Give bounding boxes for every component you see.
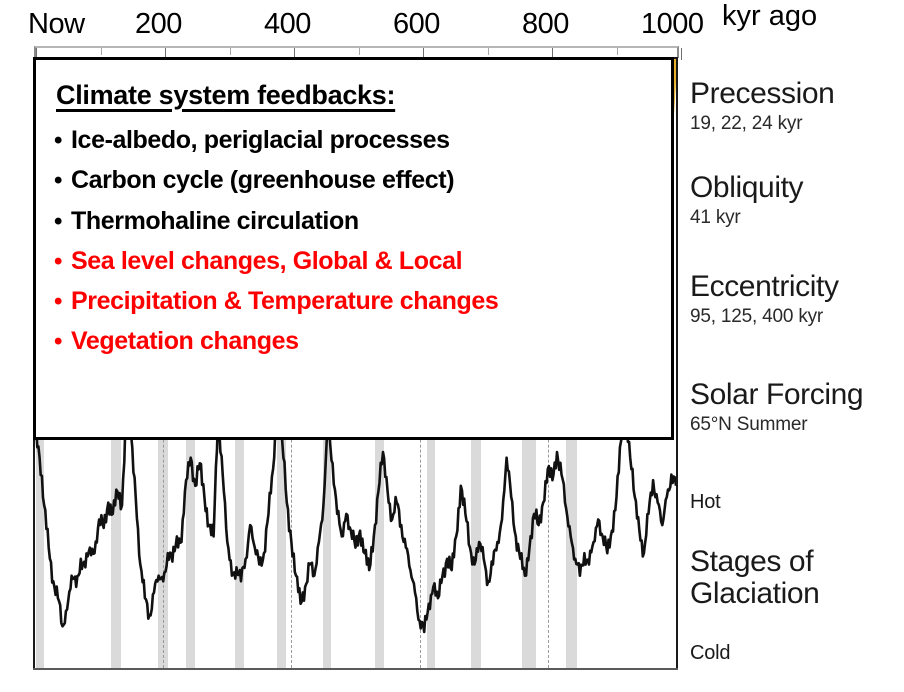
feedback-list: •Ice-albedo, periglacial processes•Carbo… [54, 127, 653, 355]
bullet-icon: • [54, 330, 62, 354]
feedback-item: •Ice-albedo, periglacial processes [54, 127, 653, 153]
feedback-item: •Sea level changes, Global & Local [54, 248, 653, 274]
axis-tick-200: 200 [135, 8, 182, 41]
ruler-minor-tick-100 [101, 48, 102, 55]
forcing-label-subtitle: Glaciation [690, 579, 819, 609]
forcing-label-column: Precession19, 22, 24 kyrObliquity41 kyrE… [690, 57, 904, 670]
slide-root: Now2004006008001000 kyr ago Climate syst… [0, 0, 904, 692]
bullet-icon: • [54, 129, 62, 153]
ruler-major-tick-1000 [681, 48, 682, 60]
forcing-label-hot: Hot [690, 491, 721, 514]
forcing-label-cold: Cold [690, 642, 730, 665]
feedback-item-label: Carbon cycle (greenhouse effect) [71, 167, 454, 193]
axis-tick-800: 800 [522, 8, 569, 41]
forcing-label-title: Precession [690, 79, 834, 109]
forcing-label-subtitle: 19, 22, 24 kyr [690, 114, 834, 134]
ruler-minor-tick-900 [617, 48, 618, 55]
forcing-label-stages-of-glaciation: Stages ofGlaciation [690, 547, 819, 609]
feedback-item: •Thermohaline circulation [54, 208, 653, 234]
ruler-minor-tick-500 [359, 48, 360, 55]
feedback-item: •Precipitation & Temperature changes [54, 288, 653, 314]
bullet-icon: • [54, 169, 62, 193]
forcing-label-obliquity: Obliquity41 kyr [690, 173, 803, 228]
forcing-label-title: Stages of [690, 547, 819, 577]
forcing-label-title: Hot [690, 491, 721, 514]
forcing-label-subtitle: 41 kyr [690, 208, 803, 228]
axis-tick-400: 400 [264, 8, 311, 41]
bullet-icon: • [54, 250, 62, 274]
ruler-minor-tick-300 [230, 48, 231, 55]
axis-tick-now: Now [28, 8, 85, 41]
forcing-label-subtitle: 65°N Summer [690, 415, 863, 435]
forcing-label-title: Solar Forcing [690, 380, 863, 410]
feedback-item: •Carbon cycle (greenhouse effect) [54, 167, 653, 193]
climate-feedbacks-panel: Climate system feedbacks: •Ice-albedo, p… [33, 57, 674, 440]
forcing-label-eccentricity: Eccentricity95, 125, 400 kyr [690, 272, 839, 327]
feedback-item-label: Precipitation & Temperature changes [71, 288, 498, 314]
axis-unit-label: kyr ago [722, 0, 817, 33]
axis-tick-1000: 1000 [641, 8, 704, 41]
forcing-label-title: Eccentricity [690, 272, 839, 302]
chart-baseline [33, 668, 678, 670]
feedback-item-label: Vegetation changes [71, 328, 299, 354]
feedback-item: •Vegetation changes [54, 328, 653, 354]
bullet-icon: • [54, 210, 62, 234]
bullet-icon: • [54, 290, 62, 314]
feedback-item-label: Ice-albedo, periglacial processes [71, 127, 450, 153]
forcing-label-subtitle: 95, 125, 400 kyr [690, 307, 839, 327]
forcing-label-title: Cold [690, 642, 730, 665]
forcing-label-solar-forcing: Solar Forcing65°N Summer [690, 380, 863, 435]
forcing-label-title: Obliquity [690, 173, 803, 203]
forcing-label-precession: Precession19, 22, 24 kyr [690, 79, 834, 134]
feedback-item-label: Sea level changes, Global & Local [71, 248, 462, 274]
ruler-minor-tick-700 [488, 48, 489, 55]
panel-title: Climate system feedbacks: [56, 80, 653, 111]
axis-tick-600: 600 [393, 8, 440, 41]
feedback-item-label: Thermohaline circulation [71, 208, 359, 234]
